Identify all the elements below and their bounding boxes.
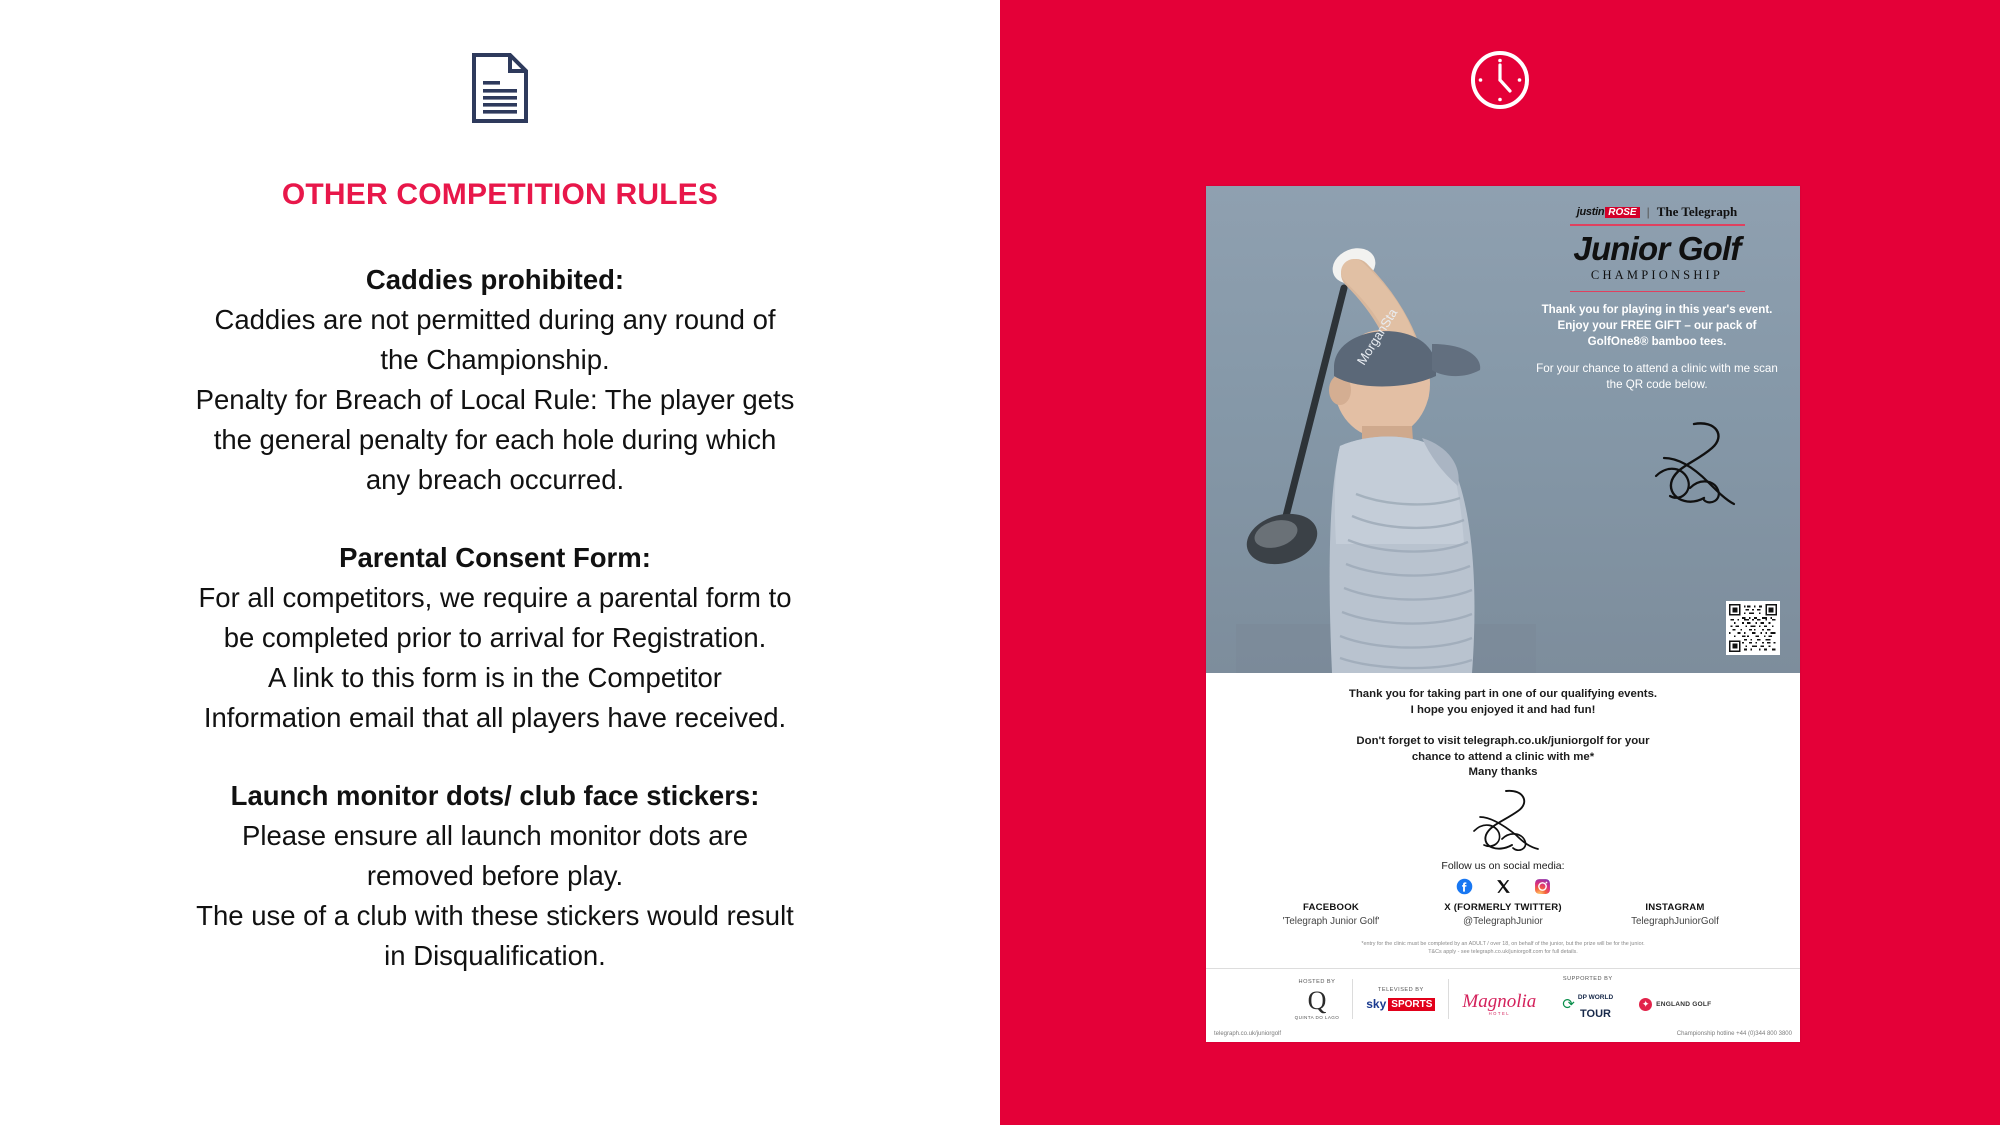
rule-line: in Disqualification. bbox=[95, 936, 895, 976]
document-icon-wrapper bbox=[0, 52, 1000, 124]
poster-message-2: For your chance to attend a clinic with … bbox=[1528, 361, 1786, 393]
brand-separator: | bbox=[1647, 205, 1650, 219]
rule-line: the general penalty for each hole during… bbox=[95, 420, 895, 460]
rule-line: any breach occurred. bbox=[95, 460, 895, 500]
social-column-instagram: INSTAGRAM TelegraphJuniorGolf bbox=[1589, 902, 1761, 927]
golfer-figure: MorganSta bbox=[1236, 194, 1536, 673]
rule-line: Please ensure all launch monitor dots ar… bbox=[95, 816, 895, 856]
rule-line: Caddies are not permitted during any rou… bbox=[95, 300, 895, 340]
divider-rule-top bbox=[1570, 224, 1745, 226]
qr-code-image bbox=[1729, 604, 1777, 652]
sponsor-england-golf: . ✦ ENGLAND GOLF bbox=[1626, 988, 1724, 1011]
sponsor-label: TELEVISED BY bbox=[1378, 987, 1424, 993]
poster-title: Junior Golf bbox=[1528, 232, 1786, 266]
poster-footer-right: Championship hotline +44 (0)344 800 3800 bbox=[1677, 1031, 1792, 1037]
dpw-text-group: DP WORLD TOUR bbox=[1578, 986, 1613, 1022]
rule-block: Launch monitor dots/ club face stickers:… bbox=[95, 776, 895, 976]
rule-heading: Parental Consent Form: bbox=[95, 538, 895, 578]
qr-code[interactable] bbox=[1726, 601, 1780, 655]
sponsor-hosted-by: HOSTED BY Q QUINTA DO LAGO bbox=[1282, 979, 1353, 1020]
telegraph-logo: The Telegraph bbox=[1657, 204, 1738, 220]
poster-panel: MorganSta bbox=[1000, 0, 2000, 1125]
quinta-do-lago-logo: Q bbox=[1308, 989, 1327, 1013]
england-golf-text: ENGLAND GOLF bbox=[1656, 1001, 1711, 1008]
brand-justin-text: justin bbox=[1577, 206, 1605, 218]
lower-message-1: Thank you for taking part in one of our … bbox=[1206, 687, 1800, 703]
divider-rule-bottom bbox=[1570, 291, 1745, 293]
social-name: FACEBOOK bbox=[1245, 902, 1417, 913]
social-column-x: X (FORMERLY TWITTER) @TelegraphJunior bbox=[1417, 902, 1589, 927]
poster-footer-left: telegraph.co.uk/juniorgolf bbox=[1214, 1031, 1281, 1037]
sponsor-label: SUPPORTED BY bbox=[1563, 976, 1613, 982]
justin-rose-logo: justinROSE bbox=[1577, 206, 1640, 218]
junior-golf-poster: MorganSta bbox=[1206, 186, 1800, 1042]
poster-subtitle: CHAMPIONSHIP bbox=[1528, 268, 1786, 283]
brand-rose-text: ROSE bbox=[1605, 207, 1639, 218]
rule-line: The use of a club with these stickers wo… bbox=[95, 896, 895, 936]
justin-rose-signature bbox=[1634, 418, 1744, 513]
justin-rose-signature-lower bbox=[1458, 787, 1548, 853]
rules-body: Caddies prohibited: Caddies are not perm… bbox=[95, 260, 895, 976]
magnolia-hotel-logo: Magnolia bbox=[1462, 993, 1536, 1011]
rule-line: Information email that all players have … bbox=[95, 698, 895, 738]
rule-block: Caddies prohibited: Caddies are not perm… bbox=[95, 260, 895, 500]
instagram-icon[interactable] bbox=[1534, 878, 1551, 895]
sponsor-caption: HOTEL bbox=[1489, 1011, 1510, 1016]
dpw-line2: TOUR bbox=[1580, 1008, 1611, 1020]
social-column-facebook: FACEBOOK 'Telegraph Junior Golf' bbox=[1245, 902, 1417, 927]
lower-message-4: chance to attend a clinic with me* bbox=[1206, 750, 1800, 766]
poster-lower-section: Thank you for taking part in one of our … bbox=[1206, 673, 1800, 1042]
smallprint-2: T&Cs apply - see telegraph.co.uk/juniorg… bbox=[1206, 948, 1800, 956]
rule-line: For all competitors, we require a parent… bbox=[95, 578, 895, 618]
lower-message-5: Many thanks bbox=[1206, 765, 1800, 781]
sponsor-supported-by: SUPPORTED BY ⟳ DP WORLD TOUR bbox=[1549, 976, 1626, 1022]
poster-header: justinROSE | The Telegraph Junior Golf C… bbox=[1528, 204, 1786, 393]
rule-heading: Launch monitor dots/ club face stickers: bbox=[95, 776, 895, 816]
social-icons-row bbox=[1206, 878, 1800, 895]
sponsor-bar: HOSTED BY Q QUINTA DO LAGO TELEVISED BY … bbox=[1206, 968, 1800, 1022]
clock-icon-wrapper bbox=[1000, 48, 2000, 112]
social-handle: 'Telegraph Junior Golf' bbox=[1245, 916, 1417, 927]
social-columns: FACEBOOK 'Telegraph Junior Golf' X (FORM… bbox=[1206, 902, 1800, 927]
rule-line: Penalty for Breach of Local Rule: The pl… bbox=[95, 380, 895, 420]
sponsor-magnolia: . Magnolia HOTEL bbox=[1449, 983, 1549, 1016]
rule-line: A link to this form is in the Competitor bbox=[95, 658, 895, 698]
social-handle: @TelegraphJunior bbox=[1417, 916, 1589, 927]
rule-block: Parental Consent Form: For all competito… bbox=[95, 538, 895, 738]
social-name: INSTAGRAM bbox=[1589, 902, 1761, 913]
sponsor-caption: QUINTA DO LAGO bbox=[1295, 1015, 1340, 1020]
sports-word: SPORTS bbox=[1388, 998, 1435, 1011]
follow-label: Follow us on social media: bbox=[1206, 860, 1800, 872]
rules-panel: OTHER COMPETITION RULES Caddies prohibit… bbox=[0, 0, 1000, 1125]
poster-message-1: Thank you for playing in this year's eve… bbox=[1528, 302, 1786, 350]
brand-row: justinROSE | The Telegraph bbox=[1528, 204, 1786, 220]
x-twitter-icon[interactable] bbox=[1495, 878, 1512, 895]
dpw-line1: DP WORLD bbox=[1578, 994, 1613, 1001]
sky-word: sky bbox=[1366, 997, 1386, 1011]
sponsor-televised-by: TELEVISED BY sky SPORTS bbox=[1353, 987, 1448, 1011]
england-golf-logo: ✦ ENGLAND GOLF bbox=[1639, 998, 1711, 1011]
document-icon bbox=[471, 52, 529, 124]
sky-sports-logo: sky SPORTS bbox=[1366, 997, 1435, 1011]
rule-heading: Caddies prohibited: bbox=[95, 260, 895, 300]
rule-line: the Championship. bbox=[95, 340, 895, 380]
slide-root: OTHER COMPETITION RULES Caddies prohibit… bbox=[0, 0, 2000, 1125]
smallprint-1: *entry for the clinic must be completed … bbox=[1206, 940, 1800, 948]
lower-message-3: Don't forget to visit telegraph.co.uk/ju… bbox=[1206, 734, 1800, 750]
social-name: X (FORMERLY TWITTER) bbox=[1417, 902, 1589, 913]
dpw-swoosh-icon: ⟳ bbox=[1562, 995, 1575, 1013]
sponsor-label: HOSTED BY bbox=[1299, 979, 1336, 985]
dp-world-tour-logo: ⟳ DP WORLD TOUR bbox=[1562, 986, 1613, 1022]
social-handle: TelegraphJuniorGolf bbox=[1589, 916, 1761, 927]
clock-icon bbox=[1468, 48, 1532, 112]
england-golf-badge-icon: ✦ bbox=[1639, 998, 1652, 1011]
rule-line: removed before play. bbox=[95, 856, 895, 896]
lower-message-2: I hope you enjoyed it and had fun! bbox=[1206, 703, 1800, 719]
page-title: OTHER COMPETITION RULES bbox=[0, 178, 1000, 212]
poster-photo: MorganSta bbox=[1206, 186, 1800, 673]
facebook-icon[interactable] bbox=[1456, 878, 1473, 895]
rule-line: be completed prior to arrival for Regist… bbox=[95, 618, 895, 658]
